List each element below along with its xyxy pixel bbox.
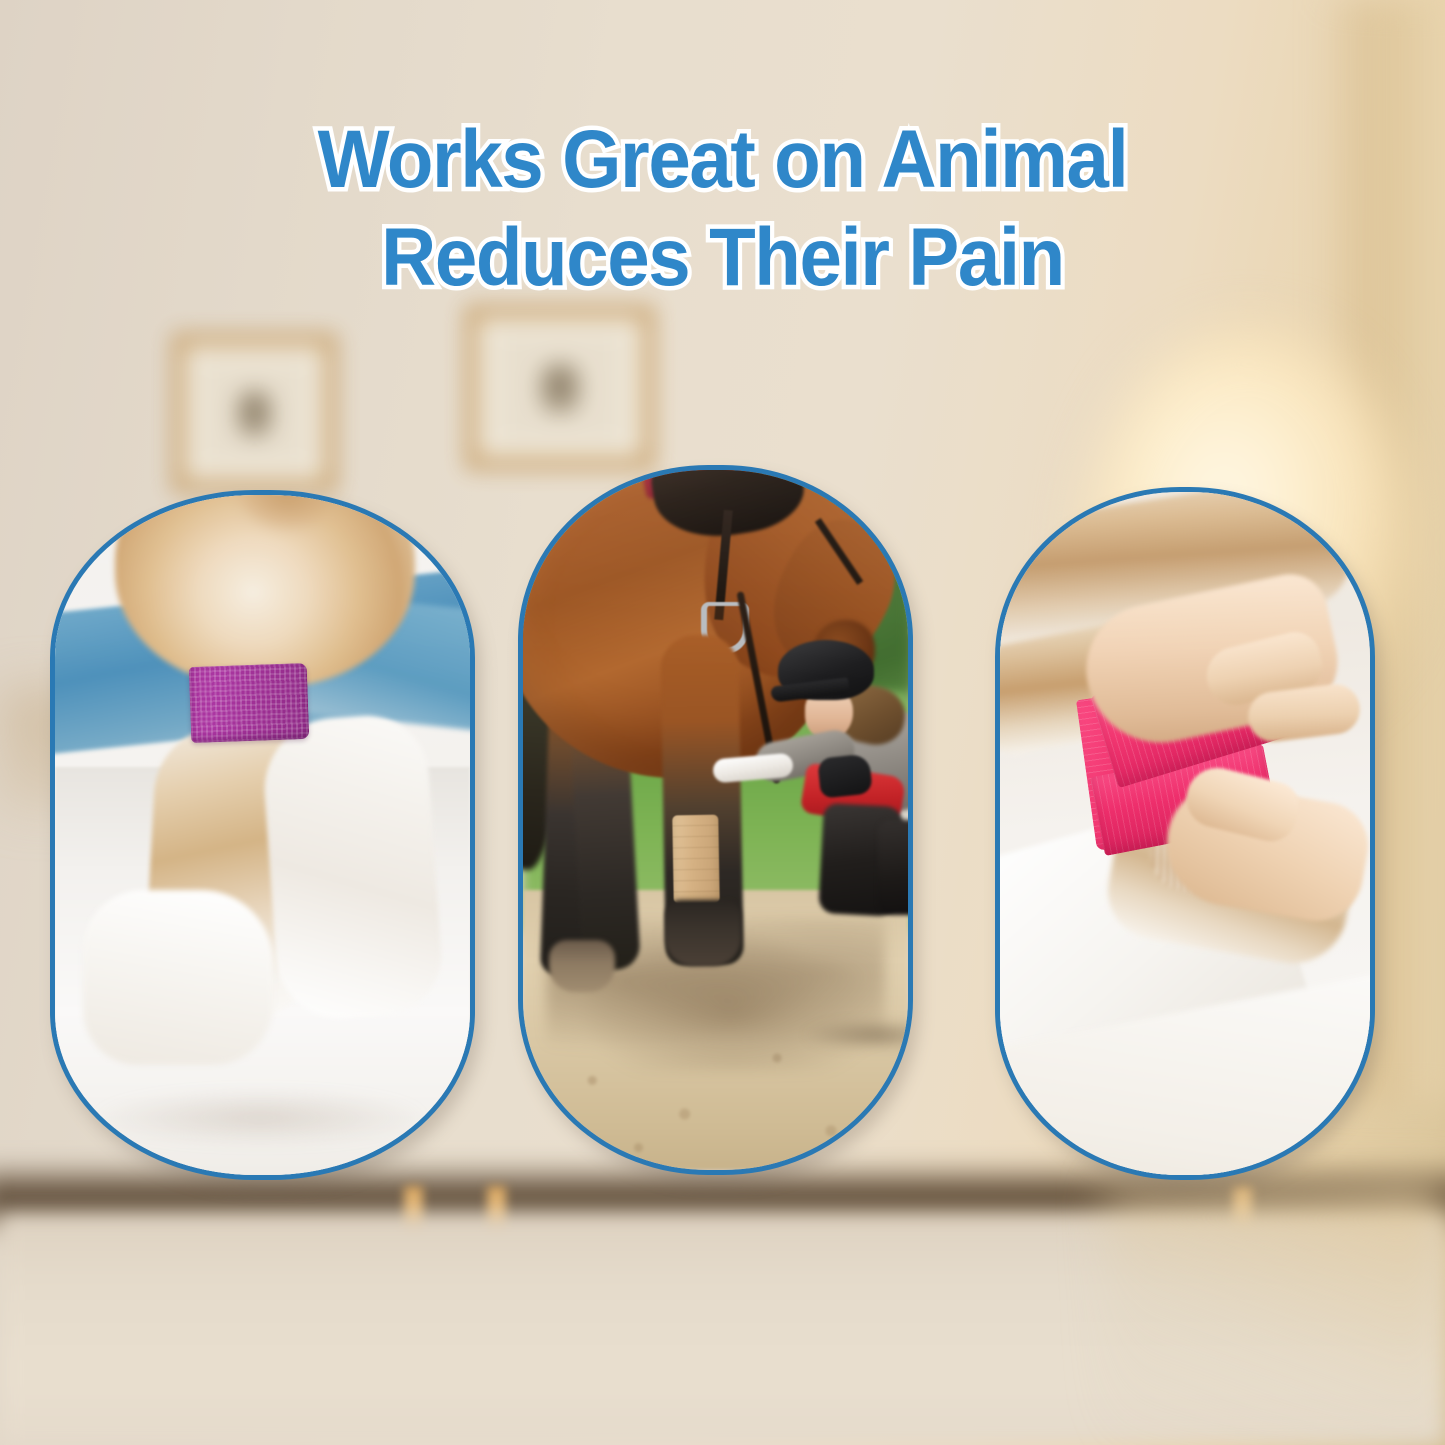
tan-bandage-wrap [672, 815, 720, 904]
horse-hoof [665, 900, 741, 966]
photo-card-cat-leg-pink-wrap [995, 487, 1375, 1180]
picture-frame-left [172, 333, 337, 493]
picture-frame-mat [501, 337, 619, 437]
product-feature-image: Works Great on Animal Reduces Their Pain [0, 0, 1445, 1445]
picture-frame-subject [236, 390, 272, 438]
photo-card-dog-paw-purple-wrap [50, 490, 475, 1180]
rider-glove [817, 753, 873, 798]
horse-hoof [549, 940, 615, 992]
floor-warm-light [1105, 1180, 1445, 1445]
paw-shadow [95, 1090, 425, 1145]
photo-card-horse-leg-tan-wrap [518, 465, 913, 1175]
purple-bandage-wrap [189, 663, 310, 743]
photo-cat-leg-pink-wrap [1000, 492, 1370, 1175]
photo-dog-paw-purple-wrap [55, 495, 470, 1175]
picture-frame-center [465, 305, 655, 470]
dog-leg [260, 712, 446, 1023]
picture-frame-mat [204, 365, 304, 462]
dog-paw [83, 890, 273, 1065]
rider-shadow [803, 1020, 908, 1050]
picture-frame-subject [539, 363, 582, 413]
riding-boot [878, 820, 908, 915]
photo-horse-leg-tan-wrap [523, 470, 908, 1170]
fur-marking [240, 495, 335, 529]
